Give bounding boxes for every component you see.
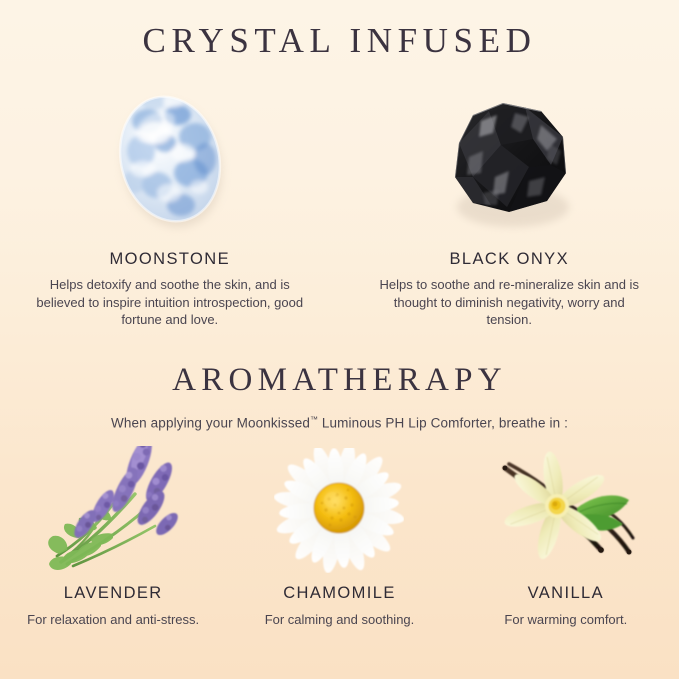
crystal-section-heading: CRYSTAL INFUSED (0, 20, 679, 62)
lavender-sprig-icon (43, 443, 183, 578)
aroma-item-description: For calming and soothing. (265, 611, 415, 628)
crystal-item-name: BLACK ONYX (450, 250, 569, 269)
aroma-item-lavender: LAVENDER For relaxation and anti-stress. (0, 443, 226, 653)
chamomile-flower-icon (274, 443, 404, 578)
aromatherapy-subtitle-before: When applying your Moonkissed (111, 416, 310, 431)
vanilla-orchid-icon (491, 443, 641, 578)
crystal-items-row: MOONSTONE Helps detoxify and soothe the … (0, 78, 679, 338)
moonstone-gem-icon (95, 78, 245, 238)
trademark-symbol: ™ (310, 415, 318, 424)
aroma-item-description: For relaxation and anti-stress. (27, 611, 199, 628)
aroma-item-vanilla: VANILLA For warming comfort. (453, 443, 679, 653)
aroma-item-name: CHAMOMILE (283, 584, 396, 603)
crystal-item-black-onyx: BLACK ONYX Helps to soothe and re-minera… (340, 78, 679, 338)
aromatherapy-subtitle-after: Luminous PH Lip Comforter, breathe in : (318, 416, 568, 431)
aroma-item-chamomile: CHAMOMILE For calming and soothing. (226, 443, 452, 653)
aromatherapy-section-heading: AROMATHERAPY (0, 360, 679, 400)
aromatherapy-items-row: LAVENDER For relaxation and anti-stress. (0, 443, 679, 653)
crystal-item-description: Helps detoxify and soothe the skin, and … (31, 276, 309, 329)
aroma-item-description: For warming comfort. (504, 611, 627, 628)
crystal-item-name: MOONSTONE (110, 250, 231, 269)
infographic-page: CRYSTAL INFUSED (0, 0, 679, 679)
aroma-item-name: LAVENDER (64, 584, 163, 603)
aromatherapy-subtitle: When applying your Moonkissed™ Luminous … (0, 411, 679, 433)
black-onyx-gem-icon (429, 78, 589, 238)
crystal-item-moonstone: MOONSTONE Helps detoxify and soothe the … (0, 78, 340, 338)
aroma-item-name: VANILLA (528, 584, 604, 603)
crystal-item-description: Helps to soothe and re-mineralize skin a… (370, 276, 648, 329)
